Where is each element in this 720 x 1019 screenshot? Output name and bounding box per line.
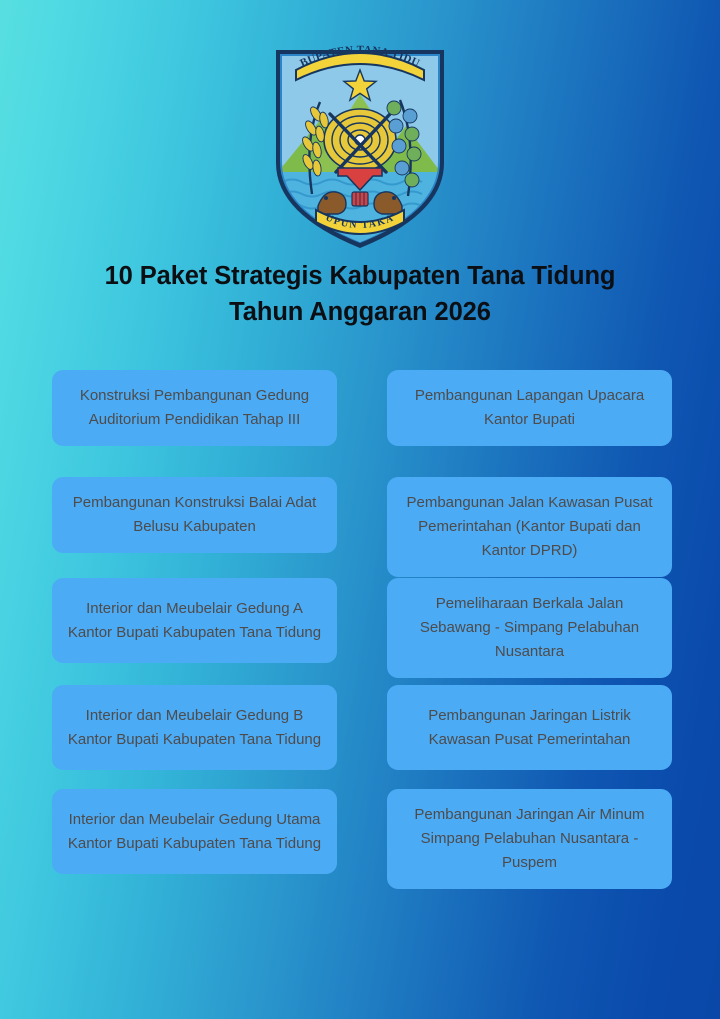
package-card[interactable]: Pembangunan Jaringan Listrik Kawasan Pus… bbox=[387, 685, 672, 770]
package-card-label: Pemeliharaan Berkala Jalan Sebawang - Si… bbox=[399, 592, 660, 664]
page-title: 10 Paket Strategis Kabupaten Tana Tidung… bbox=[0, 258, 720, 330]
package-card-label: Interior dan Meubelair Gedung B Kantor B… bbox=[64, 704, 325, 752]
package-card-label: Pembangunan Lapangan Upacara Kantor Bupa… bbox=[399, 384, 660, 432]
package-card[interactable]: Pembangunan Konstruksi Balai Adat Belusu… bbox=[52, 477, 337, 553]
package-card-label: Pembangunan Konstruksi Balai Adat Belusu… bbox=[64, 491, 325, 539]
package-row-slot: Pembangunan Jaringan Listrik Kawasan Pus… bbox=[387, 685, 672, 789]
page-title-line-1: 10 Paket Strategis Kabupaten Tana Tidung bbox=[0, 258, 720, 294]
package-card-label: Konstruksi Pembangunan Gedung Auditorium… bbox=[64, 384, 325, 432]
package-grid: Konstruksi Pembangunan Gedung Auditorium… bbox=[52, 370, 672, 879]
package-row-slot: Interior dan Meubelair Gedung A Kantor B… bbox=[52, 578, 337, 685]
package-column-right: Pembangunan Lapangan Upacara Kantor Bupa… bbox=[387, 370, 672, 879]
drum-icon bbox=[352, 192, 368, 206]
package-card-label: Interior dan Meubelair Gedung Utama Kant… bbox=[64, 808, 325, 856]
package-row-slot: Konstruksi Pembangunan Gedung Auditorium… bbox=[52, 370, 337, 477]
package-row-slot: Pemeliharaan Berkala Jalan Sebawang - Si… bbox=[387, 578, 672, 685]
package-card-label: Pembangunan Jaringan Air Minum Simpang P… bbox=[399, 803, 660, 875]
package-card-label: Pembangunan Jalan Kawasan Pusat Pemerint… bbox=[399, 491, 660, 563]
package-row-slot: Pembangunan Lapangan Upacara Kantor Bupa… bbox=[387, 370, 672, 477]
package-card[interactable]: Pembangunan Jalan Kawasan Pusat Pemerint… bbox=[387, 477, 672, 577]
package-card[interactable]: Pemeliharaan Berkala Jalan Sebawang - Si… bbox=[387, 578, 672, 678]
package-card-label: Interior dan Meubelair Gedung A Kantor B… bbox=[64, 597, 325, 645]
package-row-slot: Interior dan Meubelair Gedung B Kantor B… bbox=[52, 685, 337, 789]
package-column-left: Konstruksi Pembangunan Gedung Auditorium… bbox=[52, 370, 337, 879]
package-card[interactable]: Interior dan Meubelair Gedung Utama Kant… bbox=[52, 789, 337, 874]
page-title-line-2: Tahun Anggaran 2026 bbox=[0, 294, 720, 330]
package-card-label: Pembangunan Jaringan Listrik Kawasan Pus… bbox=[399, 704, 660, 752]
package-row-slot: Pembangunan Jalan Kawasan Pusat Pemerint… bbox=[387, 477, 672, 578]
emblem-container: KABUPATEN TANA TIDUNG UPUN TAKA bbox=[0, 22, 720, 252]
package-row-slot: Pembangunan Konstruksi Balai Adat Belusu… bbox=[52, 477, 337, 578]
package-row-slot: Interior dan Meubelair Gedung Utama Kant… bbox=[52, 789, 337, 879]
package-card[interactable]: Pembangunan Lapangan Upacara Kantor Bupa… bbox=[387, 370, 672, 446]
package-card[interactable]: Interior dan Meubelair Gedung A Kantor B… bbox=[52, 578, 337, 663]
package-card[interactable]: Pembangunan Jaringan Air Minum Simpang P… bbox=[387, 789, 672, 889]
package-card[interactable]: Interior dan Meubelair Gedung B Kantor B… bbox=[52, 685, 337, 770]
package-row-slot: Pembangunan Jaringan Air Minum Simpang P… bbox=[387, 789, 672, 879]
kabupaten-tana-tidung-emblem-icon: KABUPATEN TANA TIDUNG UPUN TAKA bbox=[260, 22, 460, 252]
package-card[interactable]: Konstruksi Pembangunan Gedung Auditorium… bbox=[52, 370, 337, 446]
